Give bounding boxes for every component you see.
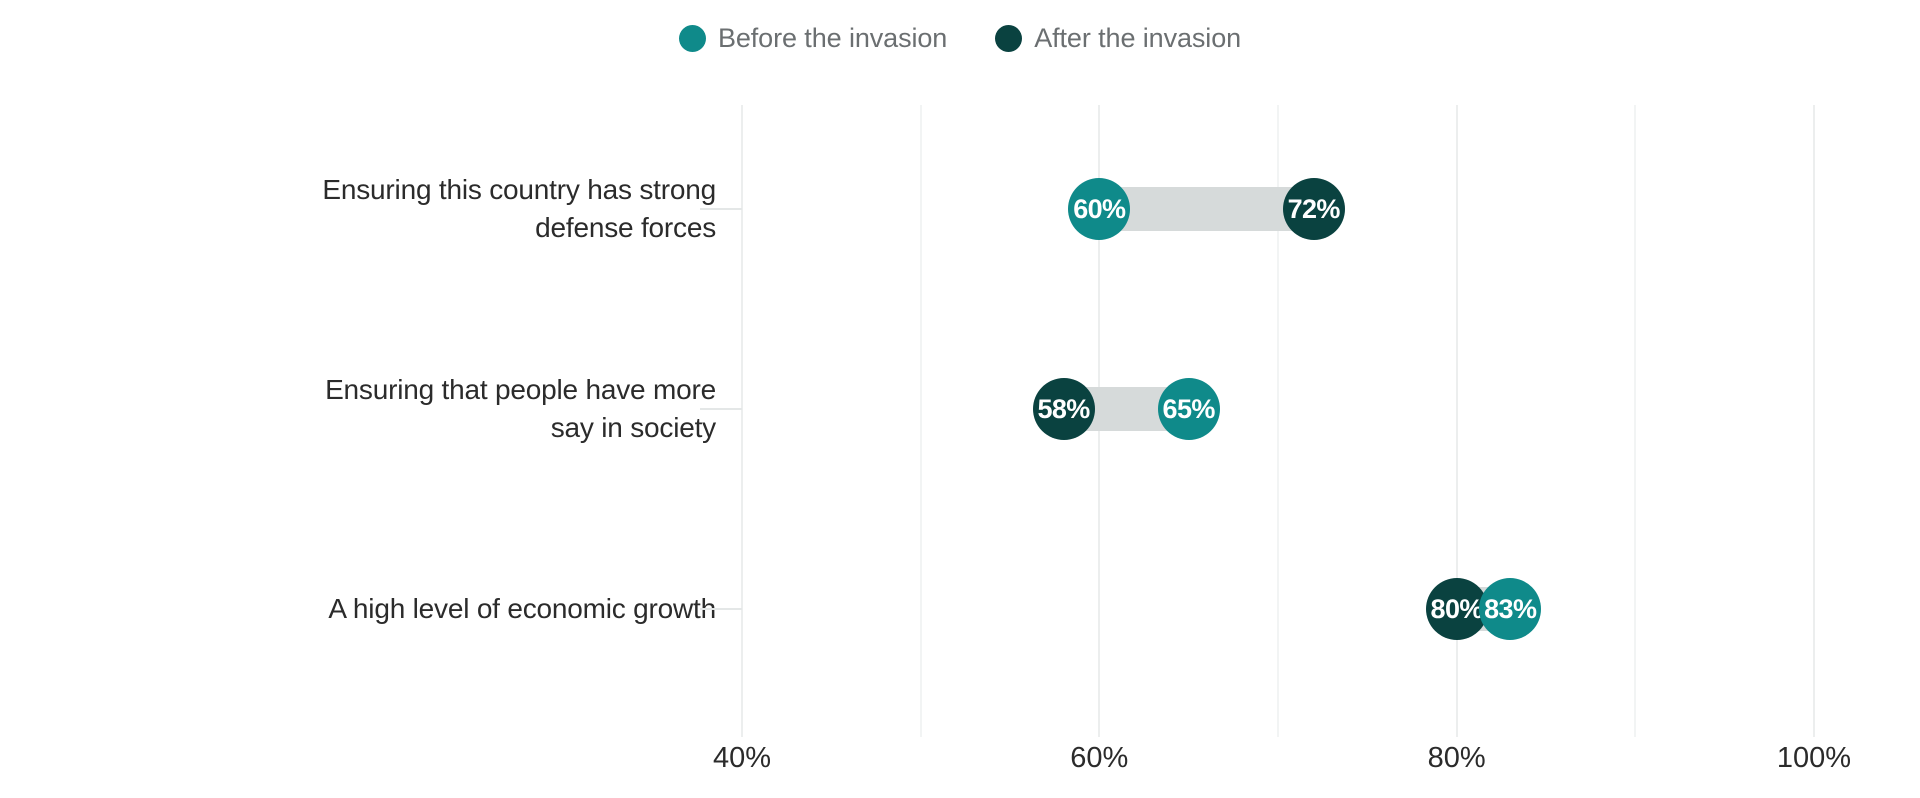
dot-before[interactable]: 60% bbox=[1068, 178, 1130, 240]
x-axis-tick-label: 80% bbox=[1428, 742, 1486, 775]
x-axis-tick-label: 100% bbox=[1777, 742, 1851, 775]
dot-after[interactable]: 72% bbox=[1283, 178, 1345, 240]
x-axis-tick-label: 40% bbox=[713, 742, 771, 775]
dot-before[interactable]: 83% bbox=[1479, 578, 1541, 640]
dot-after[interactable]: 58% bbox=[1033, 378, 1095, 440]
dumbbell-chart: Ensuring this country has strong defense… bbox=[0, 0, 1920, 798]
x-axis: 40%60%80%100% bbox=[0, 0, 1920, 798]
x-axis-tick-label: 60% bbox=[1070, 742, 1128, 775]
dot-before[interactable]: 65% bbox=[1158, 378, 1220, 440]
